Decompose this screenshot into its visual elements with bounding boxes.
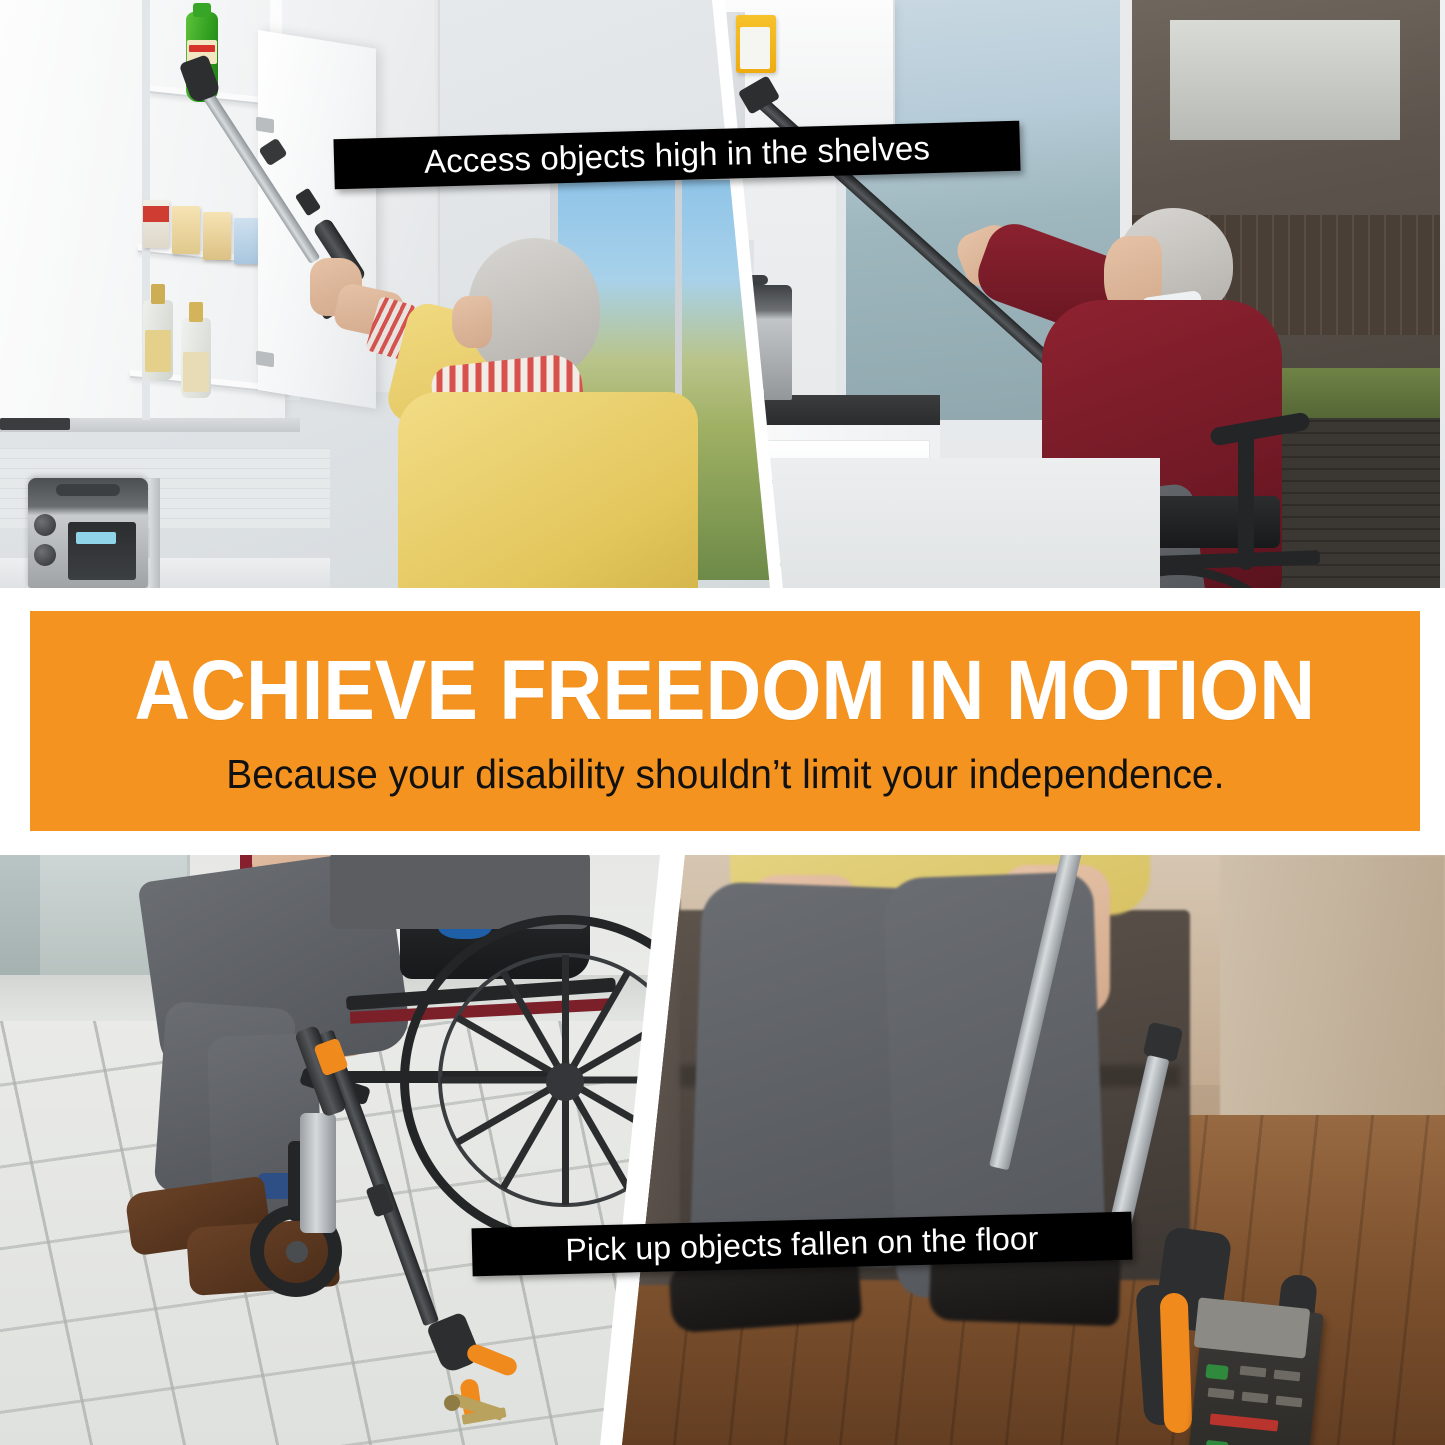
cooker-knob xyxy=(34,544,56,566)
photo-row-bottom xyxy=(0,855,1445,1445)
yellow-cardigan-body xyxy=(398,392,698,588)
floor-tiles xyxy=(730,458,1160,588)
banner-subline: Because your disability shouldn’t limit … xyxy=(226,754,1224,795)
orange-banner: ACHIEVE FREEDOM IN MOTION Because your d… xyxy=(30,611,1420,831)
food-can xyxy=(172,206,200,254)
panel-pickup-keys xyxy=(0,855,720,1445)
scene-pickup-keys xyxy=(0,855,720,1445)
caster-hub xyxy=(286,1241,308,1263)
bottle-cap xyxy=(193,3,211,17)
scene-kitchen-wheelchair xyxy=(690,0,1445,588)
cabinet-door-open xyxy=(258,30,376,409)
scene-kitchen-cabinet xyxy=(0,0,800,588)
bottle-label-stripe xyxy=(189,45,215,52)
door-hinge xyxy=(256,117,274,134)
panel-shelf-reach xyxy=(0,0,800,588)
cooker-handle xyxy=(56,484,120,496)
scene-pickup-remote xyxy=(600,855,1445,1445)
face-edge xyxy=(452,296,492,348)
bottle-label xyxy=(183,352,209,392)
bottle-label xyxy=(145,330,171,372)
banner-headline: ACHIEVE FREEDOM IN MOTION xyxy=(135,648,1316,732)
marketing-infographic: Access objects high in the shelves ACHIE… xyxy=(0,0,1445,1445)
cooker-control-panel xyxy=(68,522,136,580)
yellow-box-label xyxy=(740,27,770,69)
cooker-display xyxy=(76,532,116,544)
remote-power-button xyxy=(1205,1364,1228,1380)
wheelchair-push-handle xyxy=(1238,430,1254,570)
photo-row-top: Access objects high in the shelves xyxy=(0,0,1445,588)
cabinet-handle xyxy=(0,418,70,430)
cooker-knob xyxy=(34,514,56,536)
bottle-gold-cap xyxy=(189,302,203,322)
panel-wheelchair-kitchen xyxy=(690,0,1445,588)
reacher-jaw-grip-orange xyxy=(1160,1293,1193,1434)
keyring xyxy=(444,1395,460,1411)
footrest-post xyxy=(300,1113,336,1233)
outdoor-building xyxy=(1170,20,1400,140)
bottle-gold-cap xyxy=(151,284,165,304)
wheel-hub xyxy=(546,1063,584,1101)
door-hinge xyxy=(256,351,274,368)
appliance-side-trim xyxy=(150,478,160,588)
food-can xyxy=(203,212,231,260)
food-packet xyxy=(234,218,258,264)
can-label-red xyxy=(143,206,169,222)
panel-pickup-remote xyxy=(600,855,1445,1445)
